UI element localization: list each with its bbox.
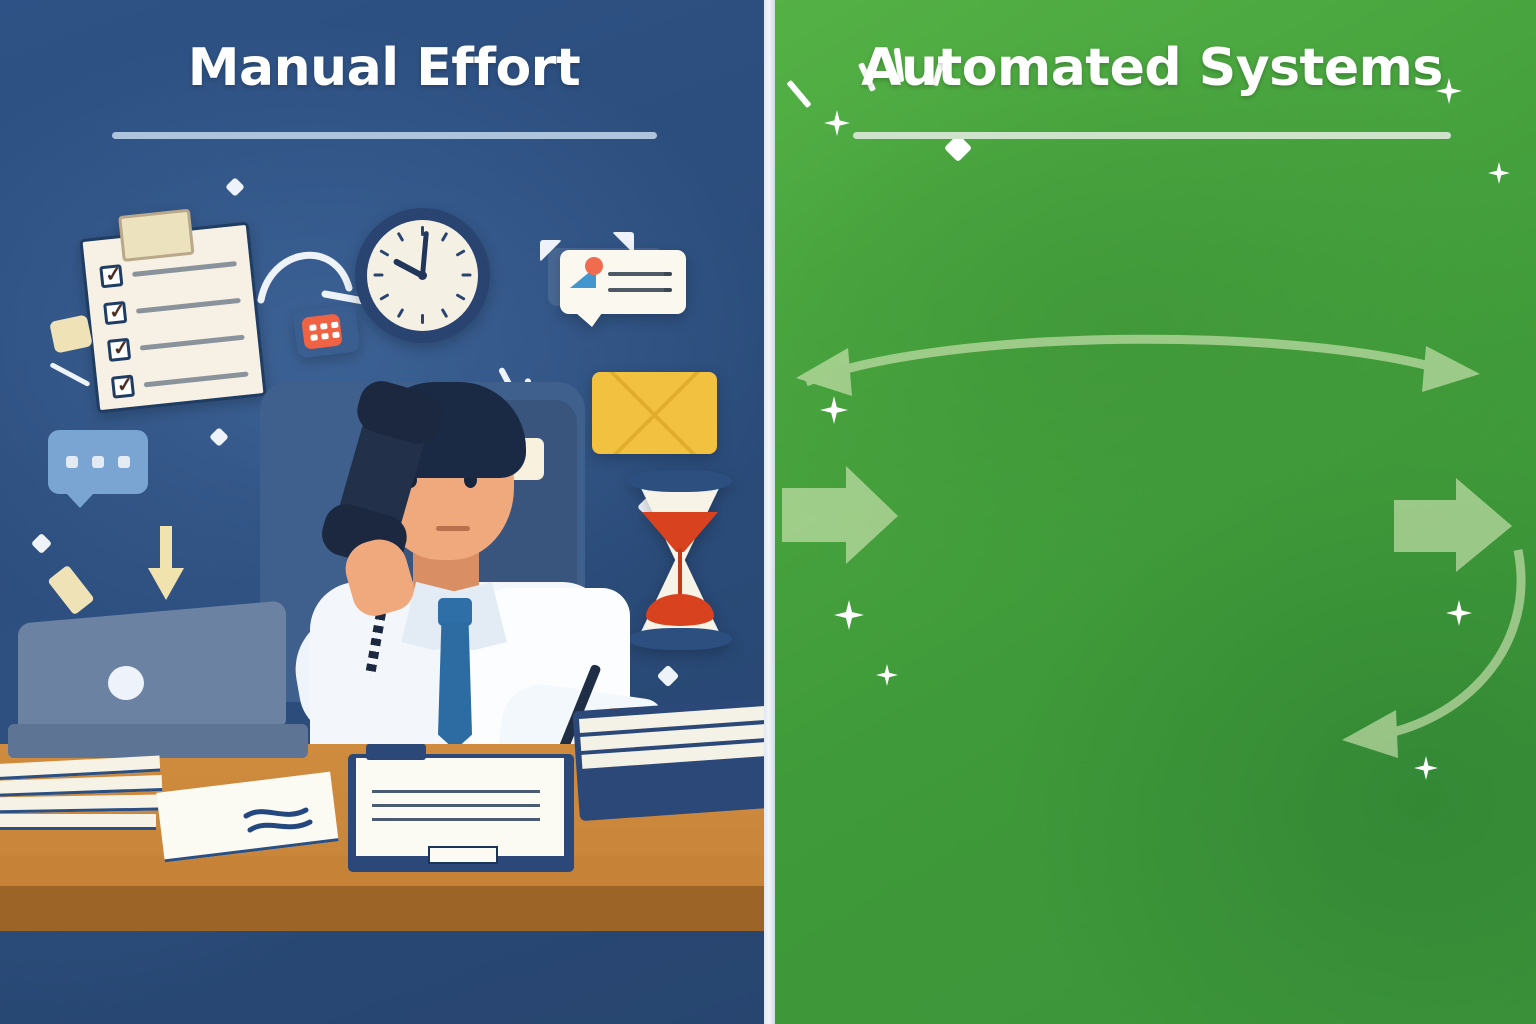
automated-systems-panel: Automated Systems <box>768 0 1536 1024</box>
clipboard-icon <box>348 754 574 872</box>
flow-arrow-icon <box>782 460 902 570</box>
left-title-underline <box>112 132 657 139</box>
signature-scribble <box>240 800 330 840</box>
panel-divider <box>764 0 775 1024</box>
sticky-note-icon <box>47 565 95 616</box>
sticky-note-icon <box>49 314 93 353</box>
diamond-sparkle-icon <box>31 533 52 554</box>
laptop-base <box>8 724 308 758</box>
manual-effort-title: Manual Effort <box>0 42 768 94</box>
binder-icon <box>572 697 768 821</box>
sparkle-icon <box>876 664 898 686</box>
hourglass-icon <box>628 470 732 650</box>
notification-backdrop <box>548 248 664 306</box>
paper-stack-icon <box>0 795 158 814</box>
right-title-block: Automated Systems <box>768 42 1536 139</box>
wall-clock-icon <box>355 208 490 343</box>
manual-effort-panel: Manual Effort <box>0 0 768 1024</box>
stapler-icon <box>366 744 426 760</box>
comparison-infographic: Manual Effort <box>0 0 1536 1024</box>
pager-icon <box>292 304 360 358</box>
automated-systems-title: Automated Systems <box>768 42 1536 94</box>
flow-arrow-icon <box>1338 540 1528 760</box>
right-title-underline <box>853 132 1451 139</box>
diamond-sparkle-icon <box>657 665 680 688</box>
flow-arrow-icon <box>786 330 1486 400</box>
sparkle-icon <box>1488 162 1510 184</box>
clipboard-clip <box>118 209 194 262</box>
sparkle-icon <box>834 600 864 630</box>
sparkle-icon <box>820 396 848 424</box>
laptop-logo <box>108 666 144 700</box>
desk-front <box>0 886 768 931</box>
diamond-sparkle-icon <box>225 177 245 197</box>
chat-bubble-icon <box>48 430 148 494</box>
paper-stack-icon <box>0 814 156 830</box>
left-title-block: Manual Effort <box>0 42 768 139</box>
doodle-line <box>49 362 90 387</box>
